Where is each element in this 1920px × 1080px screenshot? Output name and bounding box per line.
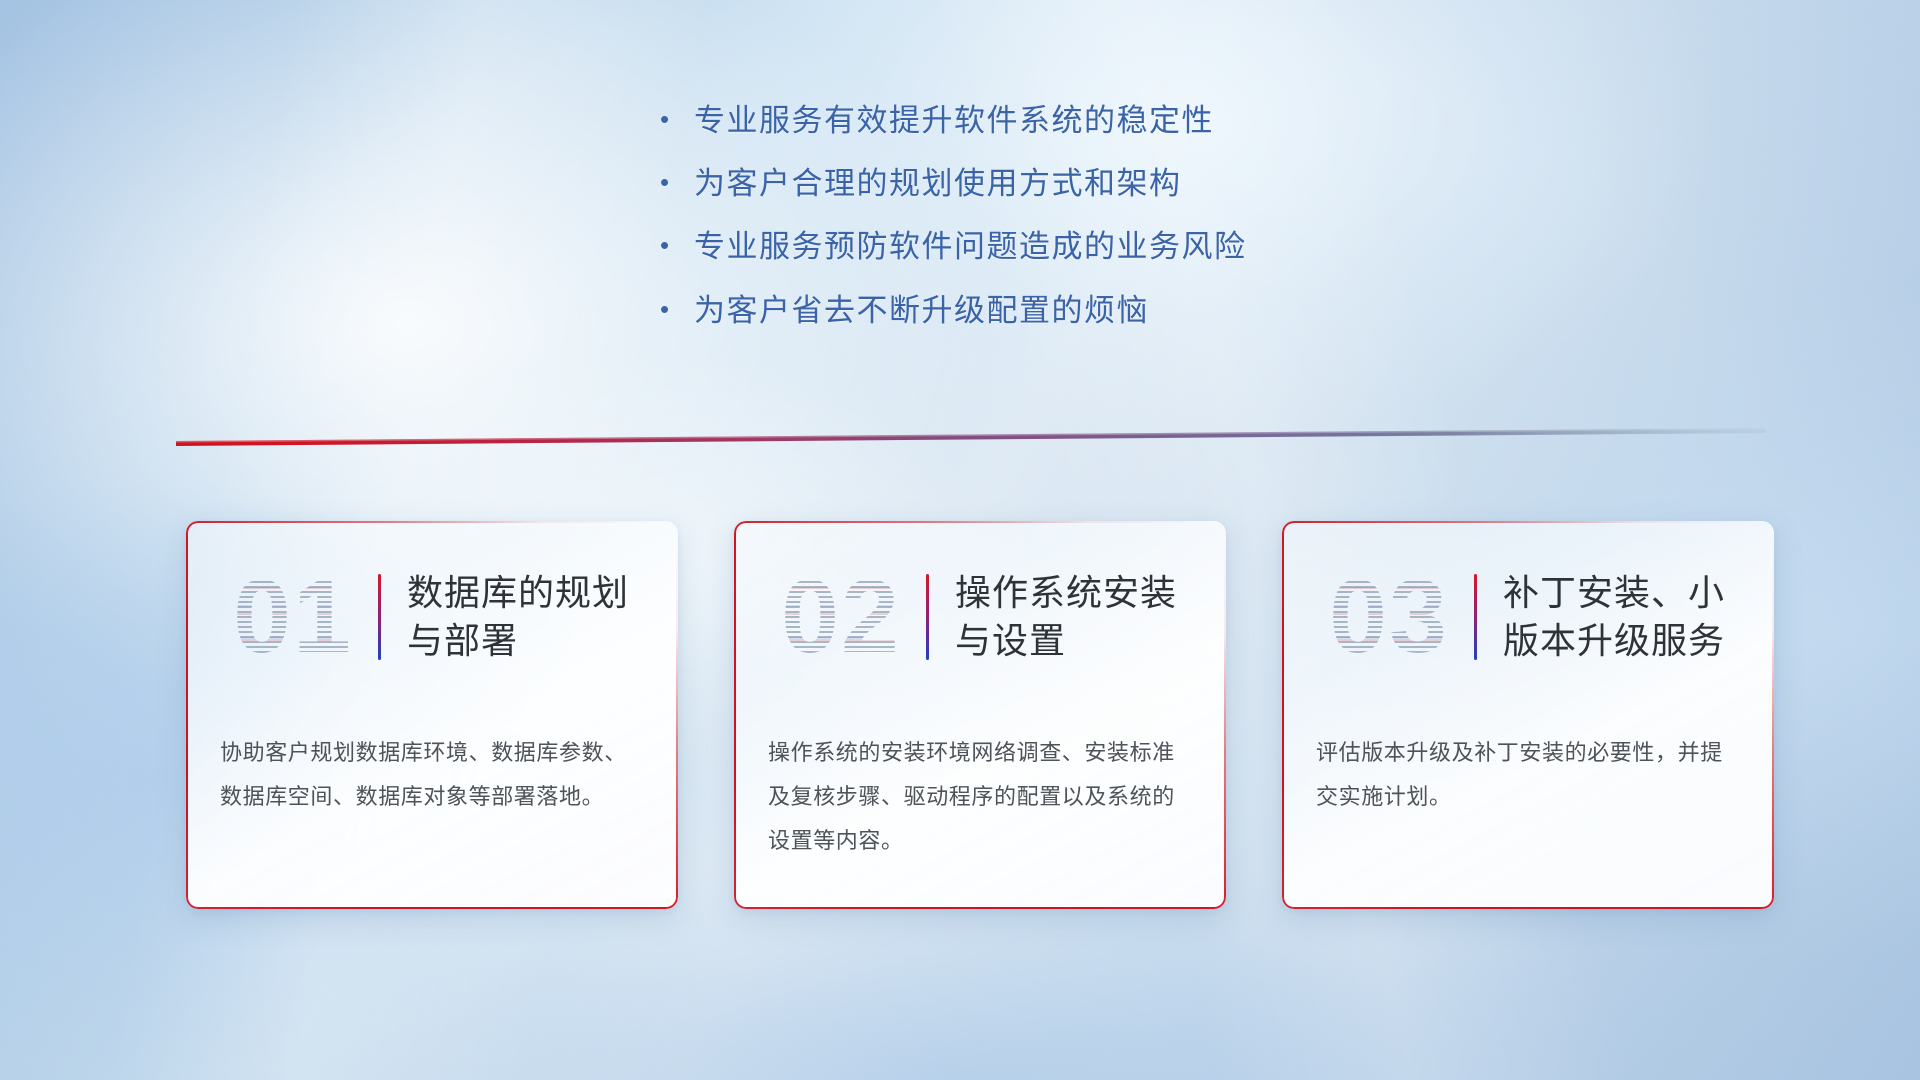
bullet-dot-icon: • bbox=[660, 102, 694, 137]
card-title: 数据库的规划与部署 bbox=[407, 569, 648, 664]
card-number-watermark: 0303 bbox=[1316, 561, 1462, 673]
divider-shape bbox=[176, 424, 1766, 446]
card-number-watermark: 0202 bbox=[768, 561, 914, 673]
card-body-text: 评估版本升级及补丁安装的必要性，并提交实施计划。 bbox=[1316, 731, 1744, 819]
list-item: • 为客户省去不断升级配置的烦恼 bbox=[660, 292, 1480, 329]
slide-canvas: • 专业服务有效提升软件系统的稳定性 • 为客户合理的规划使用方式和架构 • 专… bbox=[0, 0, 1920, 1080]
bullet-dot-icon: • bbox=[660, 292, 694, 327]
card-header: 0202 操作系统安装与设置 bbox=[768, 555, 1196, 679]
card-body-text: 操作系统的安装环境网络调查、安装标准及复核步骤、驱动程序的配置以及系统的设置等内… bbox=[768, 731, 1196, 863]
card-number-tint: 03 bbox=[1316, 561, 1462, 673]
card-row: 0101 数据库的规划与部署 协助客户规划数据库环境、数据库参数、数据库空间、数… bbox=[186, 521, 1776, 909]
bullet-item-label: 为客户合理的规划使用方式和架构 bbox=[694, 165, 1480, 202]
bullet-dot-icon: • bbox=[660, 165, 694, 200]
card-divider-rule bbox=[378, 574, 381, 660]
card-number-tint: 01 bbox=[220, 561, 366, 673]
card-divider-rule bbox=[1474, 574, 1477, 660]
list-item: • 专业服务预防软件问题造成的业务风险 bbox=[660, 228, 1480, 265]
card-03[interactable]: 0303 补丁安装、小版本升级服务 评估版本升级及补丁安装的必要性，并提交实施计… bbox=[1282, 521, 1774, 909]
card-number-watermark: 0101 bbox=[220, 561, 366, 673]
list-item: • 专业服务有效提升软件系统的稳定性 bbox=[660, 102, 1480, 139]
section-divider bbox=[176, 424, 1766, 446]
card-header: 0101 数据库的规划与部署 bbox=[220, 555, 648, 679]
card-number-tint: 02 bbox=[768, 561, 914, 673]
bullet-item-label: 专业服务有效提升软件系统的稳定性 bbox=[694, 102, 1480, 139]
bullet-item-label: 专业服务预防软件问题造成的业务风险 bbox=[694, 228, 1480, 265]
card-01[interactable]: 0101 数据库的规划与部署 协助客户规划数据库环境、数据库参数、数据库空间、数… bbox=[186, 521, 678, 909]
card-02[interactable]: 0202 操作系统安装与设置 操作系统的安装环境网络调查、安装标准及复核步骤、驱… bbox=[734, 521, 1226, 909]
bullet-list: • 专业服务有效提升软件系统的稳定性 • 为客户合理的规划使用方式和架构 • 专… bbox=[660, 102, 1480, 355]
bullet-item-label: 为客户省去不断升级配置的烦恼 bbox=[694, 292, 1480, 329]
card-body-text: 协助客户规划数据库环境、数据库参数、数据库空间、数据库对象等部署落地。 bbox=[220, 731, 648, 819]
card-header: 0303 补丁安装、小版本升级服务 bbox=[1316, 555, 1744, 679]
list-item: • 为客户合理的规划使用方式和架构 bbox=[660, 165, 1480, 202]
card-title: 补丁安装、小版本升级服务 bbox=[1503, 569, 1744, 664]
bullet-dot-icon: • bbox=[660, 228, 694, 263]
card-title: 操作系统安装与设置 bbox=[955, 569, 1196, 664]
card-divider-rule bbox=[926, 574, 929, 660]
